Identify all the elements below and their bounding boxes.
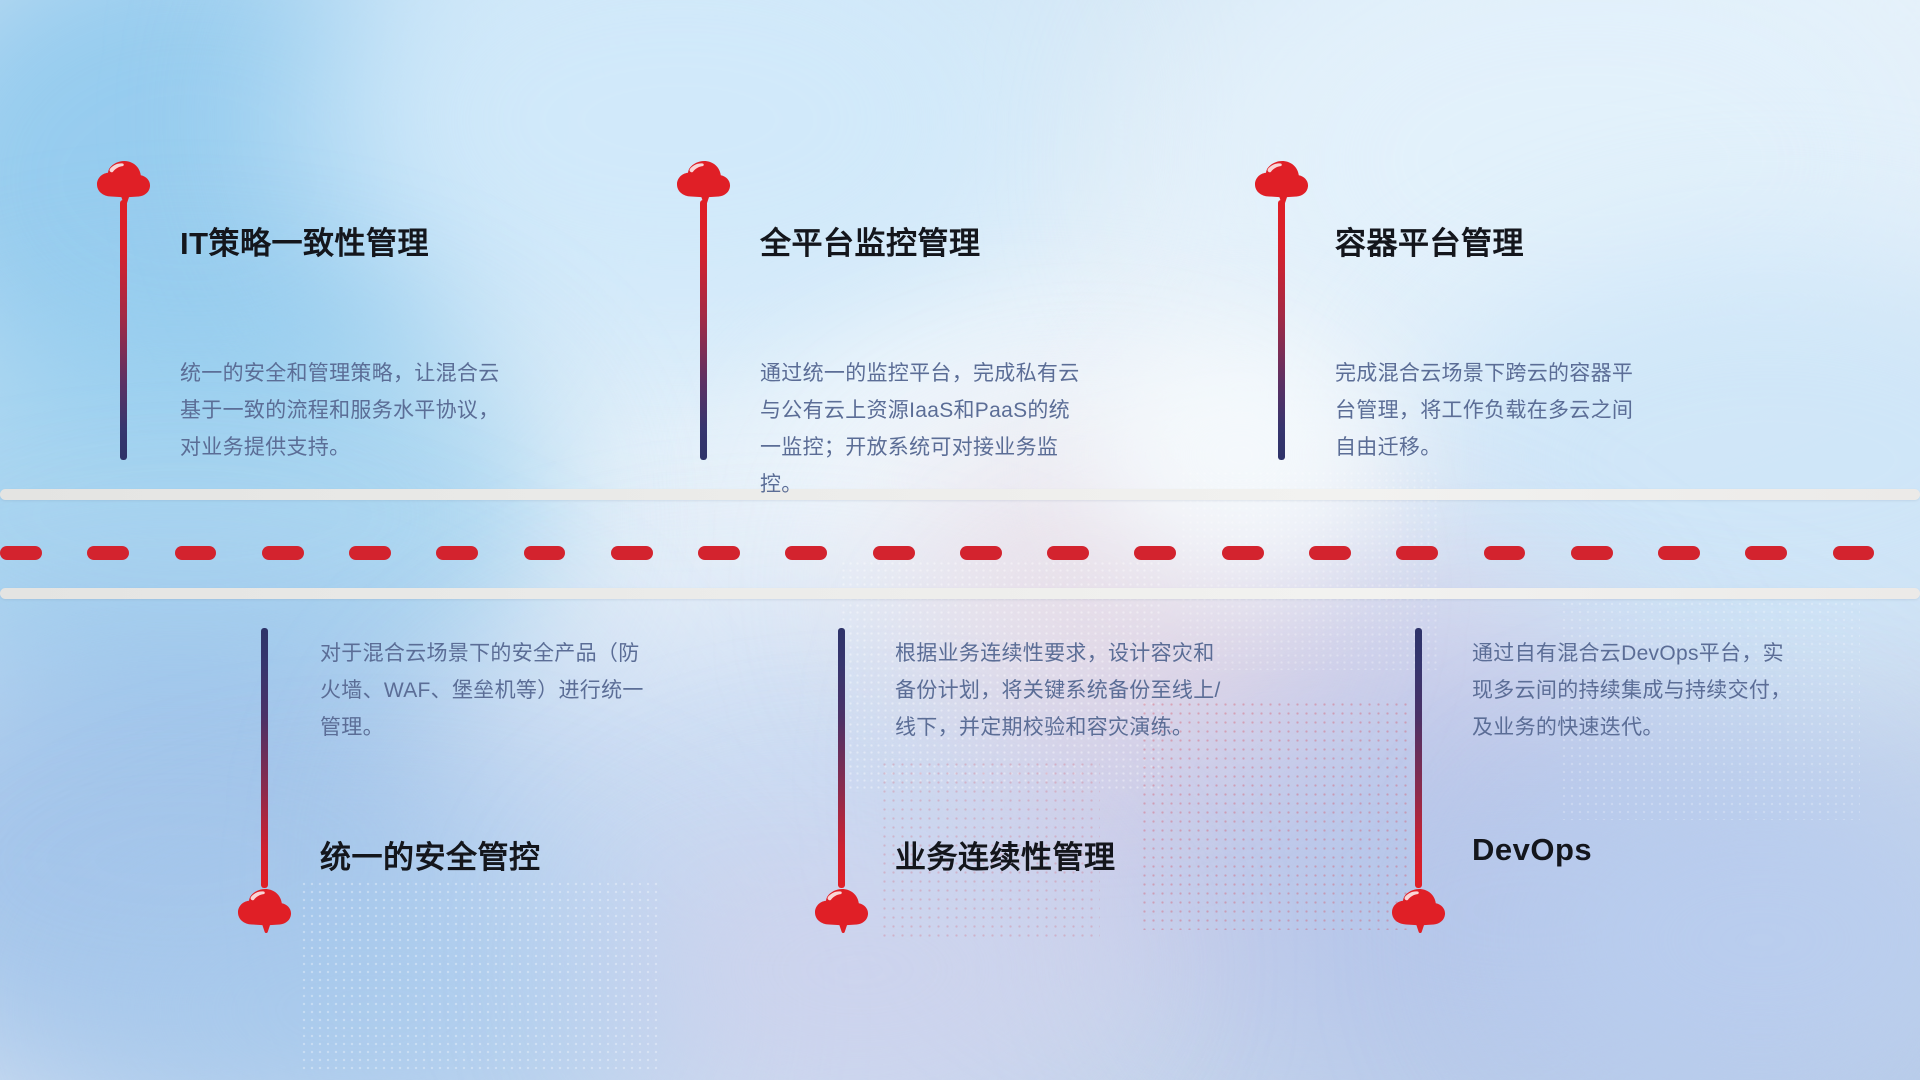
connector-stem bbox=[700, 200, 707, 460]
background-speckle-texture-white bbox=[300, 880, 660, 1070]
top-item-description-1: 统一的安全和管理策略，让混合云基于一致的流程和服务水平协议，对业务提供支持。 bbox=[180, 355, 510, 466]
road-dash-segment bbox=[524, 546, 566, 560]
bottom-item-title-3: DevOps bbox=[1472, 832, 1592, 868]
cloud-pin-icon bbox=[675, 160, 733, 205]
road-dash-segment bbox=[1047, 546, 1089, 560]
connector-stem bbox=[120, 200, 127, 460]
road-dash-segment bbox=[87, 546, 129, 560]
road-dash-segment bbox=[873, 546, 915, 560]
road-dash-segment bbox=[0, 546, 42, 560]
road-dash-segment bbox=[1309, 546, 1351, 560]
top-item-title-2: 全平台监控管理 bbox=[760, 218, 981, 263]
road-dash-segment bbox=[611, 546, 653, 560]
cloud-pin-icon bbox=[236, 888, 294, 933]
top-item-description-2: 通过统一的监控平台，完成私有云与公有云上资源IaaS和PaaS的统一监控；开放系… bbox=[760, 355, 1090, 503]
infographic-canvas: IT策略一致性管理 统一的安全和管理策略，让混合云基于一致的流程和服务水平协议，… bbox=[0, 0, 1920, 1080]
connector-stem bbox=[1415, 628, 1422, 888]
road-center-dashed-line bbox=[0, 545, 1920, 560]
road-dash-segment bbox=[436, 546, 478, 560]
road-dash-segment bbox=[1658, 546, 1700, 560]
cloud-pin-icon bbox=[813, 888, 871, 933]
road-dash-segment bbox=[1833, 546, 1875, 560]
road-dash-segment bbox=[262, 546, 304, 560]
road-dash-segment bbox=[1396, 546, 1438, 560]
bottom-item-title-2: 业务连续性管理 bbox=[895, 832, 1116, 877]
top-item-title-1: IT策略一致性管理 bbox=[180, 218, 429, 263]
road-dash-segment bbox=[960, 546, 1002, 560]
cloud-pin-icon bbox=[1253, 160, 1311, 205]
connector-stem bbox=[261, 628, 268, 888]
road-dash-segment bbox=[698, 546, 740, 560]
road-dash-segment bbox=[1571, 546, 1613, 560]
bottom-item-description-1: 对于混合云场景下的安全产品（防火墙、WAF、堡垒机等）进行统一管理。 bbox=[320, 635, 650, 746]
road-dash-segment bbox=[349, 546, 391, 560]
road-dash-segment bbox=[1745, 546, 1787, 560]
bottom-item-description-2: 根据业务连续性要求，设计容灾和备份计划，将关键系统备份至线上/线下，并定期校验和… bbox=[895, 635, 1225, 746]
top-item-description-3: 完成混合云场景下跨云的容器平台管理，将工作负载在多云之间自由迁移。 bbox=[1335, 355, 1653, 466]
connector-stem bbox=[1278, 200, 1285, 460]
road-edge-line-bottom bbox=[0, 588, 1920, 599]
bottom-item-title-1: 统一的安全管控 bbox=[320, 832, 541, 877]
bottom-item-description-3: 通过自有混合云DevOps平台，实现多云间的持续集成与持续交付，及业务的快速迭代… bbox=[1472, 635, 1802, 746]
cloud-pin-icon bbox=[1390, 888, 1448, 933]
road-dash-segment bbox=[785, 546, 827, 560]
road-dash-segment bbox=[1222, 546, 1264, 560]
road-dash-segment bbox=[1484, 546, 1526, 560]
connector-stem bbox=[838, 628, 845, 888]
cloud-pin-icon bbox=[95, 160, 153, 205]
top-item-title-3: 容器平台管理 bbox=[1335, 218, 1524, 263]
road-dash-segment bbox=[1134, 546, 1176, 560]
road-dash-segment bbox=[175, 546, 217, 560]
